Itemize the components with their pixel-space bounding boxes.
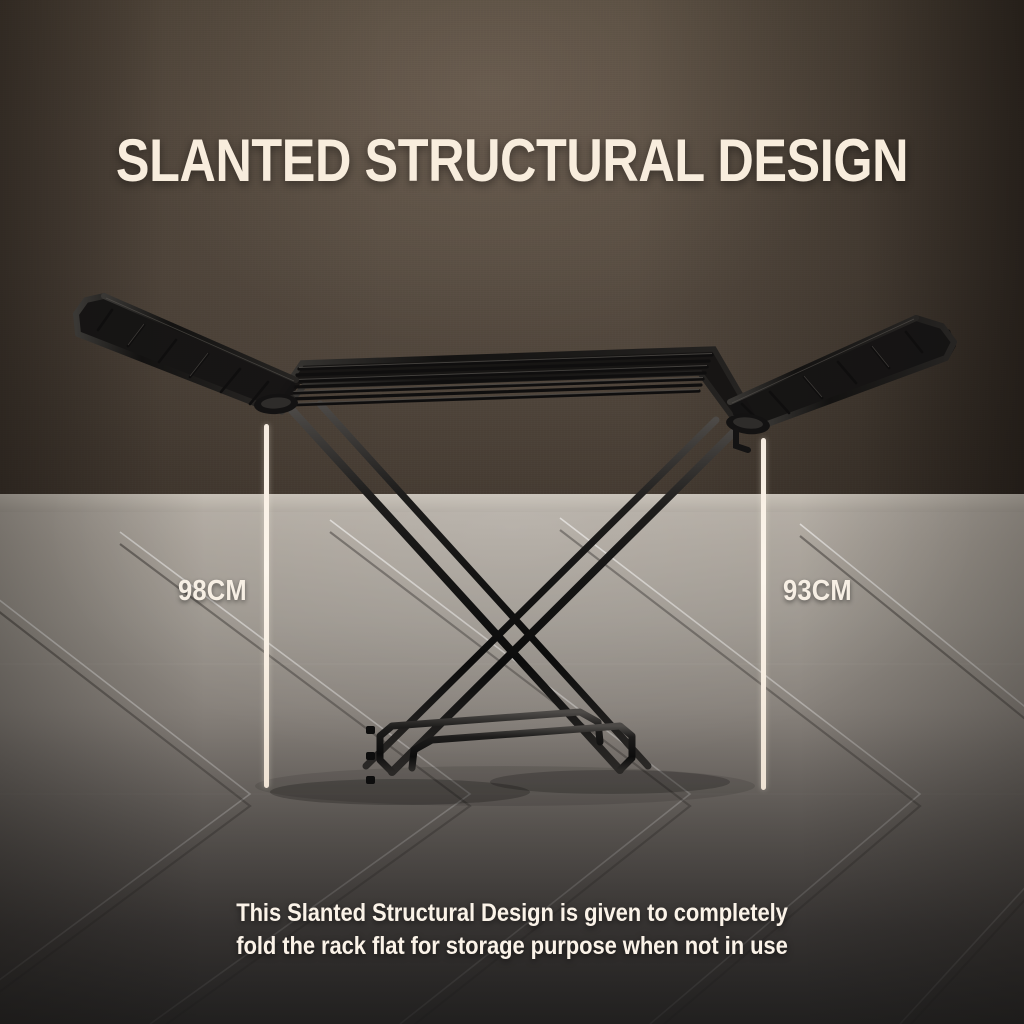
measurement-line-left — [264, 424, 269, 788]
caption-text: This Slanted Structural Design is given … — [61, 897, 962, 963]
product-feature-image: 98CM 93CM SLANTED STRUCTURAL DESIGN This… — [0, 0, 1024, 1024]
caption-line-1: This Slanted Structural Design is given … — [61, 897, 962, 930]
wall-vignette — [0, 0, 1024, 496]
caption-line-2: fold the rack flat for storage purpose w… — [61, 930, 962, 963]
measurement-label-98cm: 98CM — [178, 575, 247, 608]
page-title: SLANTED STRUCTURAL DESIGN — [82, 131, 942, 191]
measurement-line-right — [761, 438, 766, 790]
measurement-label-93cm: 93CM — [783, 575, 852, 608]
